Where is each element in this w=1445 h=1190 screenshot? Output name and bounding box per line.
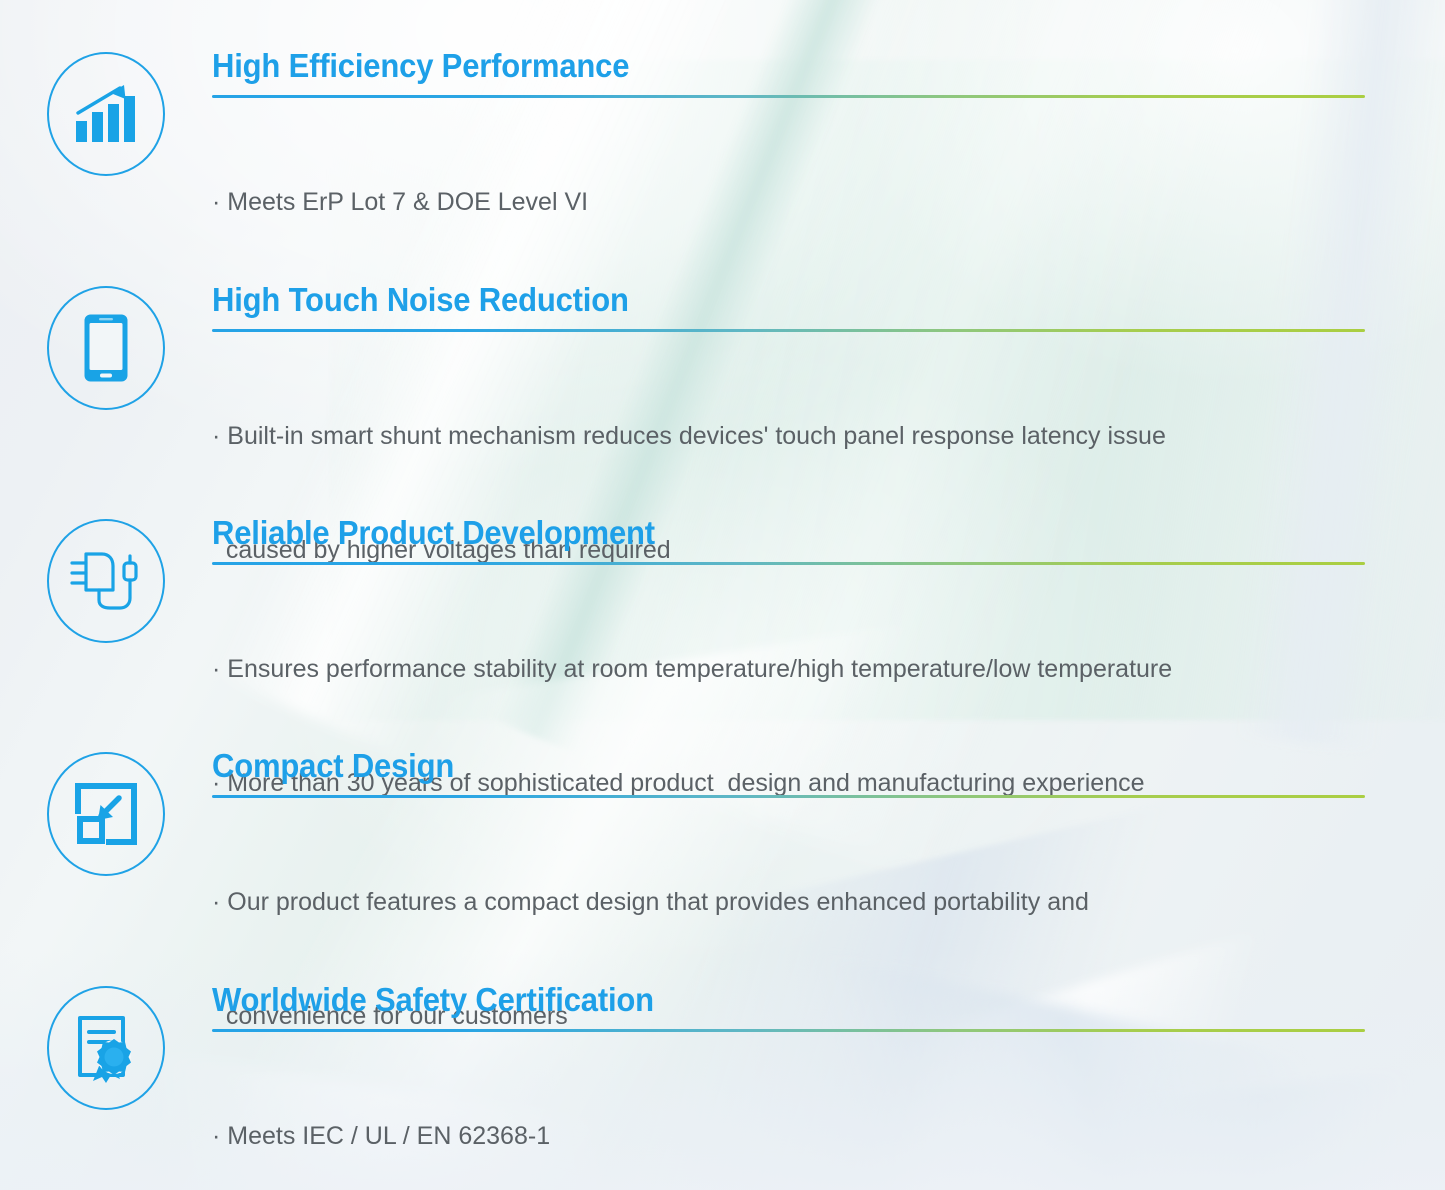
feature-bullets: · Meets IEC / UL / EN 62368-1 [212,1041,1365,1190]
feature-text-column: Worldwide Safety Certification · Meets I… [212,982,1445,1190]
certificate-award-icon [47,986,165,1110]
feature-icon-column [0,282,212,410]
feature-icon-column [0,515,212,643]
feature-divider [212,329,1365,332]
feature-title: High Touch Noise Reduction [212,282,1296,318]
feature-divider [212,95,1365,98]
feature-bullets: · Meets ErP Lot 7 & DOE Level VI [212,107,1365,297]
compact-resize-icon [47,752,165,876]
feature-list: High Efficiency Performance · Meets ErP … [0,0,1445,1190]
feature-title: Compact Design [212,748,1296,784]
bar-chart-growth-icon [47,52,165,176]
smartphone-icon [47,286,165,410]
feature-icon-column [0,982,212,1110]
feature-icon-column [0,48,212,176]
feature-text-column: High Efficiency Performance · Meets ErP … [212,48,1445,297]
feature-bullet-line: · Meets ErP Lot 7 & DOE Level VI [212,183,1365,221]
feature-bullet-line: · Meets IEC / UL / EN 62368-1 [212,1117,1365,1155]
feature-item-high-efficiency-performance: High Efficiency Performance · Meets ErP … [0,48,1445,297]
power-adapter-plug-icon [47,519,165,643]
feature-title: Worldwide Safety Certification [212,982,1296,1018]
feature-icon-column [0,748,212,876]
feature-divider [212,795,1365,798]
feature-bullet-line: · Built-in smart shunt mechanism reduces… [212,417,1365,455]
feature-bullet-line: · Our product features a compact design … [212,883,1365,921]
feature-bullet-line: · Ensures performance stability at room … [212,650,1365,688]
feature-item-worldwide-safety-certification: Worldwide Safety Certification · Meets I… [0,982,1445,1190]
feature-divider [212,1029,1365,1032]
feature-title: Reliable Product Development [212,515,1296,551]
feature-title: High Efficiency Performance [212,48,1296,84]
feature-divider [212,562,1365,565]
